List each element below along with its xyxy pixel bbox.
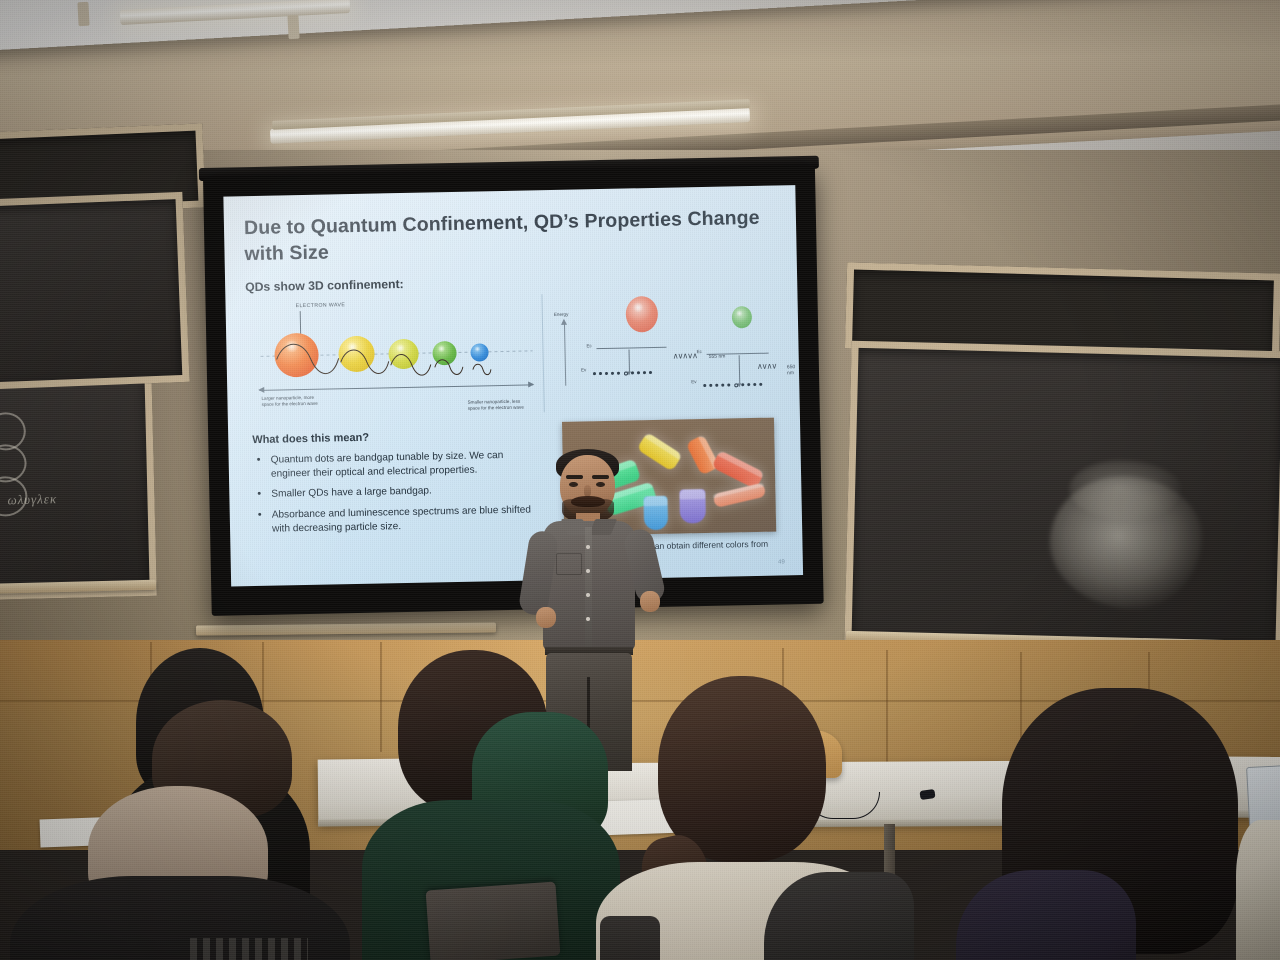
conduction-band-label-small: Eᴄ	[697, 349, 702, 354]
energy-level-diagram: Energy Eᴄ Eᴠ ∧∨∧∨∧ 555 nm	[549, 289, 787, 420]
energy-axis-label: Energy	[554, 312, 569, 317]
presenter-mustache	[571, 496, 605, 507]
presenter-eye	[596, 482, 605, 487]
conduction-level-large	[596, 347, 666, 349]
electron-wave-label: ELECTRON WAVE	[296, 302, 346, 309]
slide-subtitle: QDs show 3D confinement:	[245, 277, 404, 294]
slide-number: 49	[778, 559, 785, 565]
chalkboard-left-lower	[0, 192, 190, 390]
bullet-item: Absorbance and luminescence spectrums ar…	[254, 503, 540, 536]
quantum-confinement-size-diagram: ELECTRON WAVE	[252, 298, 544, 426]
qd-vial-orange	[686, 434, 720, 475]
shirt-button	[586, 593, 590, 597]
valence-band-label-large: Eᴠ	[581, 367, 586, 372]
energy-axis-arrow	[564, 324, 566, 386]
presenter-pocket	[556, 553, 582, 575]
photon-wave-small: ∧∨∧∨	[757, 362, 777, 371]
smaller-nanoparticle-caption: Smaller nanoparticle, less space for the…	[468, 399, 526, 413]
presenter-eye	[569, 482, 578, 487]
slide-title: Due to Quantum Confinement, QD’s Propert…	[244, 205, 785, 267]
student-hair	[658, 676, 826, 862]
student-right-dark	[980, 688, 1280, 960]
student-jacket	[1236, 820, 1280, 960]
presenter-hand-right	[640, 591, 660, 612]
larger-nanoparticle-caption: Larger nanoparticle, more space for the …	[261, 395, 323, 409]
chalkboard-writing: ωλυγλεκ	[7, 491, 57, 508]
energy-dot-small	[732, 306, 752, 328]
conduction-level-small	[707, 353, 769, 355]
chalkboard-left-main: ωλυγλεκ	[0, 360, 157, 600]
presenter-eyebrow	[592, 475, 609, 479]
student-far-right	[1236, 820, 1280, 960]
student-cream-hoodie	[618, 676, 898, 960]
light-bracket-icon	[77, 2, 89, 27]
electron-wave-curves	[270, 325, 497, 382]
what-does-this-mean-heading: What does this mean?	[252, 432, 369, 446]
bullet-item: Quantum dots are bandgap tunable by size…	[253, 448, 539, 481]
wavelength-small: 650 nm	[787, 364, 796, 376]
shirt-button	[586, 545, 590, 549]
presenter-eyebrow	[566, 475, 583, 479]
lecture-hall-photo: ωλυγλεκ Due to Quantum Confinement, QD’s…	[0, 0, 1280, 960]
slide-bullet-list: Quantum dots are bandgap tunable by size…	[253, 448, 541, 543]
student-tan-hoodie	[40, 700, 340, 960]
backpack-strap	[600, 916, 660, 960]
student-jacket	[956, 870, 1136, 960]
backpack-print	[190, 938, 308, 960]
shirt-button	[586, 569, 590, 573]
light-bracket-icon	[287, 15, 299, 40]
shirt-button	[586, 617, 590, 621]
tablet-on-lap	[426, 882, 561, 960]
valence-band-label-small: Eᴠ	[691, 379, 696, 384]
energy-dot-large	[625, 296, 658, 333]
radiative-transition-large	[629, 349, 630, 371]
size-axis-arrow	[259, 384, 533, 390]
conduction-band-label-large: Eᴄ	[586, 343, 591, 348]
valence-level-large	[593, 371, 669, 377]
presenter-hand-left	[536, 607, 556, 628]
radiative-transition-small	[739, 355, 741, 383]
chalkboard-right-main	[844, 341, 1280, 654]
qd-vial-salmon	[713, 483, 767, 508]
bullet-item: Smaller QDs have a large bandgap.	[253, 483, 539, 502]
photon-wave-large: ∧∨∧∨∧	[673, 351, 697, 360]
